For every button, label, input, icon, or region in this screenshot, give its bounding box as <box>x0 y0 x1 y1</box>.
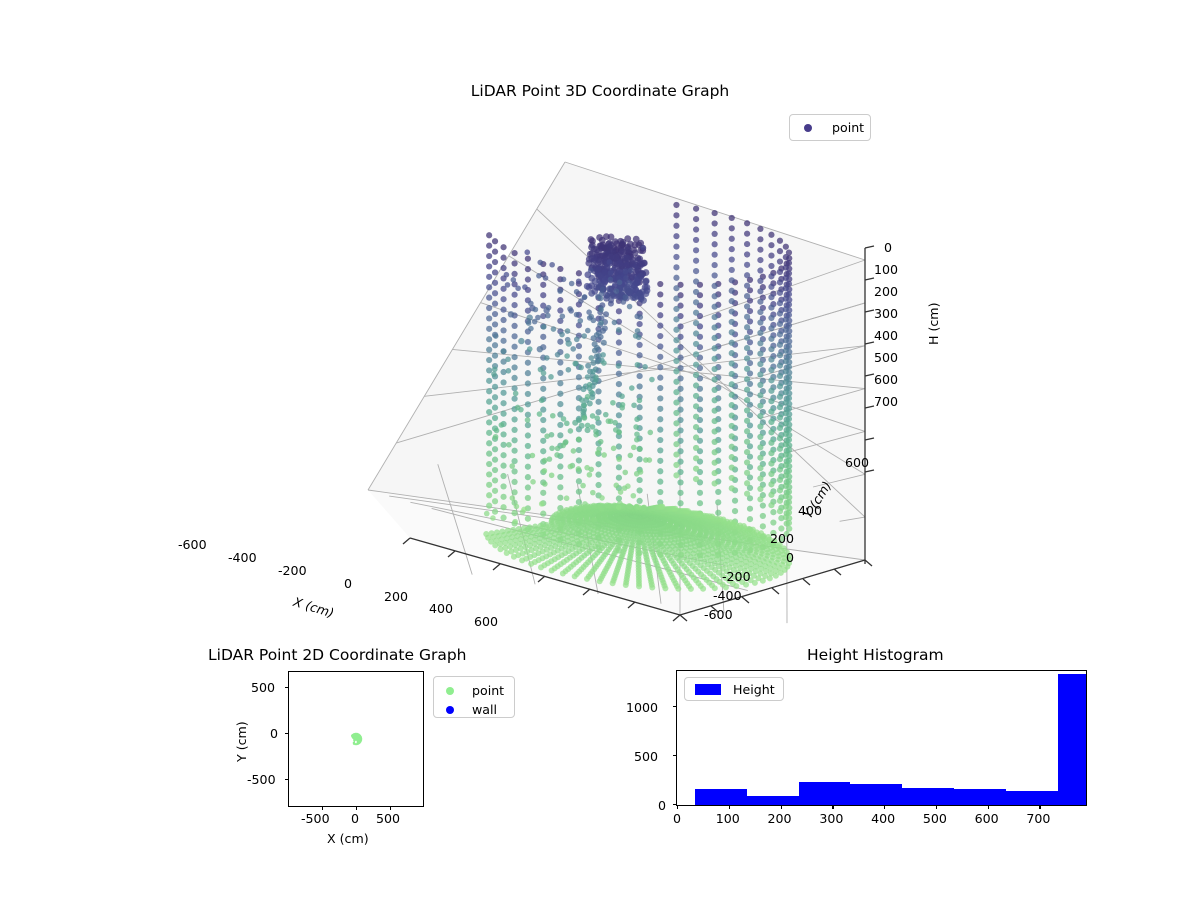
tick-h3d-1: 100 <box>874 262 898 277</box>
tick-h3d-5: 500 <box>874 350 898 365</box>
tick-y3d-4r: -200 <box>722 569 751 584</box>
scan-gap-0 <box>352 741 354 742</box>
legend-label-height: Height <box>733 682 775 697</box>
tick-y3d-5r: -400 <box>713 588 742 603</box>
histogram-bar <box>1058 674 1086 805</box>
axis-label-h3d: H (cm) <box>926 303 941 346</box>
tickmark-y2d-2 <box>285 779 289 780</box>
legend-item-wall-2d: wall <box>442 700 506 719</box>
point-marker-icon <box>804 124 812 132</box>
tickmark-y2d-1 <box>285 733 289 734</box>
tickmark-xhist-2 <box>781 805 782 809</box>
histogram-bar <box>850 784 902 805</box>
legend-2d[interactable]: point wall <box>433 676 515 718</box>
tick-y3d-2r: 200 <box>770 531 794 546</box>
page-title: LiDAR Point 3D Coordinate Graph <box>0 82 1200 100</box>
tick-y3d-3r: 0 <box>786 550 794 565</box>
axis-label-y2d: Y (cm) <box>234 721 249 762</box>
plot-2d-title: LiDAR Point 2D Coordinate Graph <box>208 646 466 664</box>
tick-y2d-0: 500 <box>251 680 275 695</box>
tickmark-xhist-7 <box>1039 805 1040 809</box>
tick-xhist-1: 100 <box>716 811 740 826</box>
tickmark-x2d-1 <box>356 807 357 811</box>
histogram-bar <box>747 796 799 805</box>
tick-xhist-6: 600 <box>975 811 999 826</box>
tick-h3d-2: 200 <box>874 284 898 299</box>
tick-h3d-4: 400 <box>874 328 898 343</box>
histogram-bar <box>695 789 747 805</box>
plot-2d-canvas <box>289 672 423 806</box>
plot-3d-canvas <box>300 140 920 640</box>
tick-xhist-4: 400 <box>871 811 895 826</box>
histogram-title: Height Histogram <box>807 646 944 664</box>
legend-item-point: point <box>798 119 862 136</box>
figure-canvas: LiDAR Point 3D Coordinate Graph point <box>0 0 1200 900</box>
tick-y2d-1: 0 <box>270 726 278 741</box>
legend-label-point-2d: point <box>472 683 504 698</box>
tick-xhist-0: 0 <box>673 811 681 826</box>
legend-histogram[interactable]: Height <box>684 677 784 701</box>
legend-label-wall-2d: wall <box>472 702 497 717</box>
tick-x3d-5: 400 <box>429 601 453 616</box>
tick-yhist-0: 0 <box>658 798 666 813</box>
histogram-bar <box>799 782 851 805</box>
tick-x3d-2: -200 <box>278 563 307 578</box>
histogram-bar <box>902 788 954 805</box>
tickmark-xhist-1 <box>729 805 730 809</box>
tick-x2d-0: -500 <box>301 811 330 826</box>
tick-y2d-2: -500 <box>247 772 276 787</box>
tick-x3d-1: -400 <box>228 550 257 565</box>
tick-x3d-0: -600 <box>178 537 207 552</box>
tickmark-xhist-0 <box>677 805 678 809</box>
tick-h3d-3: 300 <box>874 306 898 321</box>
tick-xhist-7: 700 <box>1026 811 1050 826</box>
histogram-bar <box>954 789 1006 805</box>
histogram-bar <box>1006 791 1058 805</box>
legend-3d[interactable]: point <box>789 114 871 141</box>
tickmark-yhist-2 <box>673 706 677 707</box>
tick-x2d-2: 500 <box>376 811 400 826</box>
wall-marker-icon <box>446 706 454 714</box>
tick-x3d-6: 600 <box>474 614 498 629</box>
tickmark-xhist-4 <box>884 805 885 809</box>
height-bar-swatch-icon <box>695 684 721 695</box>
axis-label-x2d: X (cm) <box>327 831 369 846</box>
tick-h3d-0: 0 <box>884 240 892 255</box>
tickmark-yhist-0 <box>673 804 677 805</box>
plot-2d-lidar[interactable] <box>288 671 424 807</box>
legend-label-point: point <box>832 120 864 135</box>
tick-x3d-4: 200 <box>384 589 408 604</box>
tick-y3d-0r: 600 <box>845 455 869 470</box>
tickmark-yhist-1 <box>673 755 677 756</box>
plot-3d-lidar[interactable] <box>300 140 920 640</box>
tick-yhist-1: 500 <box>634 749 658 764</box>
tick-yhist-2: 1000 <box>626 700 658 715</box>
legend-item-point-2d: point <box>442 681 506 700</box>
tickmark-x2d-0 <box>322 807 323 811</box>
tickmark-xhist-6 <box>988 805 989 809</box>
tick-xhist-3: 300 <box>819 811 843 826</box>
legend-item-height: Height <box>693 682 775 696</box>
tick-h3d-6: 600 <box>874 372 898 387</box>
point-marker-icon <box>446 687 454 695</box>
tickmark-y2d-0 <box>285 687 289 688</box>
tick-y3d-6r: -600 <box>704 607 733 622</box>
tick-xhist-5: 500 <box>923 811 947 826</box>
tick-x3d-3: 0 <box>344 576 352 591</box>
tick-xhist-2: 200 <box>768 811 792 826</box>
point-cloud-2d <box>351 733 362 746</box>
tick-x2d-1: 0 <box>351 811 359 826</box>
tick-h3d-7: 700 <box>874 394 898 409</box>
tickmark-xhist-3 <box>832 805 833 809</box>
tickmark-xhist-5 <box>936 805 937 809</box>
tickmark-x2d-2 <box>390 807 391 811</box>
